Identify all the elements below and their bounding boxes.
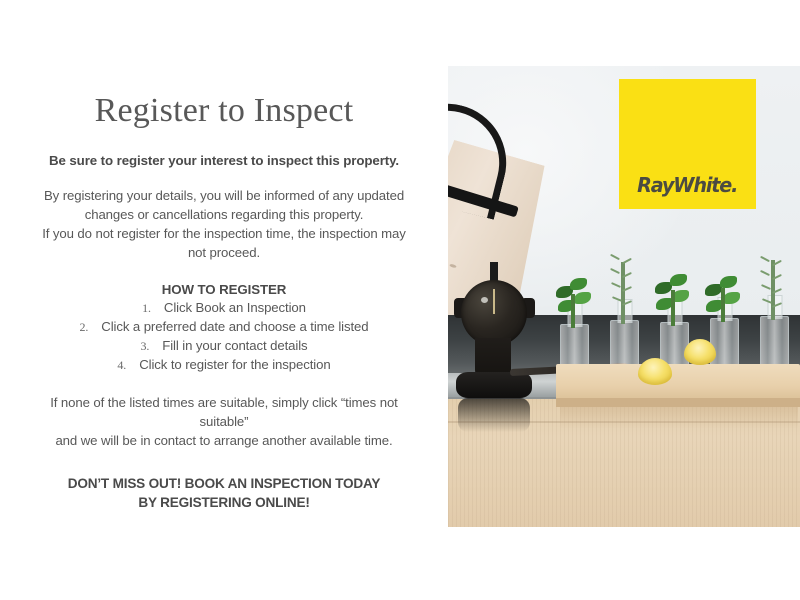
list-item: 1.Click Book an Inspection bbox=[22, 299, 426, 318]
intro-line-3: If you do not register for the inspectio… bbox=[42, 226, 406, 241]
step-text: Click to register for the inspection bbox=[139, 357, 330, 372]
how-to-register-steps: 1.Click Book an Inspection 2.Click a pre… bbox=[22, 297, 426, 374]
lemon-half bbox=[684, 339, 716, 365]
step-text: Click Book an Inspection bbox=[164, 300, 306, 315]
step-number: 3. bbox=[140, 339, 162, 353]
intro-paragraph: By registering your details, you will be… bbox=[22, 168, 426, 262]
raywhite-logo: RayWhite. bbox=[637, 175, 737, 195]
raywhite-sign: RayWhite. bbox=[619, 79, 756, 209]
cta-line-1: DON’T MISS OUT! BOOK AN INSPECTION TODAY bbox=[68, 476, 380, 491]
how-to-register-title: HOW TO REGISTER bbox=[22, 262, 426, 297]
lead-statement: Be sure to register your interest to ins… bbox=[22, 129, 426, 168]
cta-line-2: BY REGISTERING ONLINE! bbox=[138, 495, 309, 510]
step-number: 2. bbox=[79, 320, 101, 334]
step-text: Click a preferred date and choose a time… bbox=[101, 319, 368, 334]
intro-line-4: not proceed. bbox=[188, 245, 260, 260]
lemon-half bbox=[638, 358, 672, 385]
lemon-rind bbox=[684, 339, 716, 365]
step-number: 4. bbox=[117, 358, 139, 372]
intro-line-2: changes or cancellations regarding this … bbox=[85, 207, 364, 222]
photo-bottom-margin bbox=[448, 527, 800, 600]
herb-stem bbox=[671, 290, 675, 326]
fallback-line-3: and we will be in contact to arrange ano… bbox=[55, 433, 392, 448]
lemon-rind bbox=[638, 358, 672, 385]
list-item: 4.Click to register for the inspection bbox=[22, 356, 426, 375]
bottle bbox=[760, 316, 789, 368]
cutting-board-reflection bbox=[560, 407, 798, 429]
information-panel: Register to Inspect Be sure to register … bbox=[0, 0, 448, 600]
call-to-action: DON’T MISS OUT! BOOK AN INSPECTION TODAY… bbox=[22, 450, 426, 512]
list-item: 2.Click a preferred date and choose a ti… bbox=[22, 318, 426, 337]
scale-reflection bbox=[458, 398, 530, 432]
step-number: 1. bbox=[142, 301, 164, 315]
herb-stem bbox=[721, 288, 725, 322]
herb-stem bbox=[571, 294, 575, 328]
page-title: Register to Inspect bbox=[22, 0, 426, 129]
rosemary-stem bbox=[621, 262, 625, 324]
scale-base bbox=[456, 372, 532, 398]
fallback-line-2: suitable” bbox=[200, 414, 249, 429]
step-text: Fill in your contact details bbox=[162, 338, 307, 353]
photo-top-margin bbox=[448, 0, 800, 66]
list-item: 3.Fill in your contact details bbox=[22, 337, 426, 356]
intro-line-1: By registering your details, you will be… bbox=[44, 188, 404, 203]
fallback-paragraph: If none of the listed times are suitable… bbox=[22, 374, 426, 450]
fallback-line-1: If none of the listed times are suitable… bbox=[50, 395, 398, 410]
cutting-board-edge bbox=[556, 398, 800, 407]
bottle bbox=[610, 320, 639, 368]
property-photo: RayWhite. bbox=[448, 66, 800, 527]
glass-bottles-with-herbs bbox=[560, 308, 796, 368]
bottle bbox=[560, 324, 589, 368]
poster-canvas: Register to Inspect Be sure to register … bbox=[0, 0, 800, 600]
vintage-kitchen-scale bbox=[461, 280, 527, 346]
bottle bbox=[710, 318, 739, 368]
